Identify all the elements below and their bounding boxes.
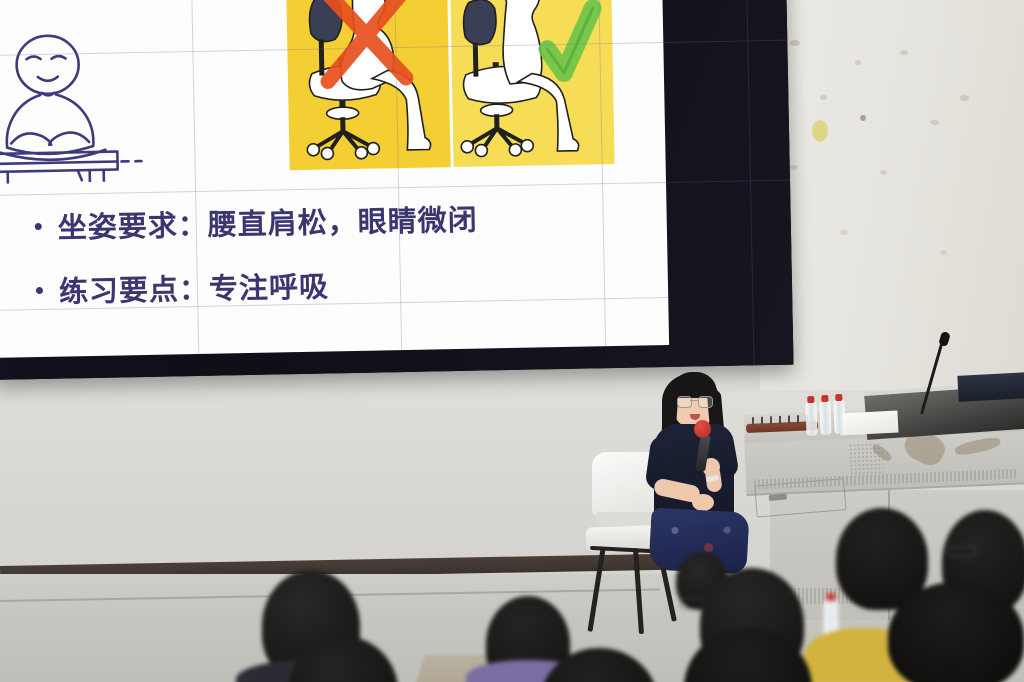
water-bottle bbox=[833, 400, 845, 434]
bullet-dot-icon bbox=[35, 222, 42, 229]
list-item: 坐姿要求：腰直肩松，眼睛微闭 bbox=[34, 194, 635, 248]
left-hand bbox=[692, 494, 714, 511]
audience-head bbox=[888, 582, 1024, 682]
equipment-box bbox=[957, 372, 1024, 402]
sitting-posture-comparison bbox=[286, 0, 615, 170]
water-bottle bbox=[819, 401, 831, 435]
bullet-dot-icon bbox=[36, 286, 43, 293]
meditation-figure-doodle bbox=[0, 0, 192, 184]
eyeglasses-icon bbox=[948, 546, 976, 557]
right-wall-panel bbox=[760, 0, 1024, 390]
slide-bullet-list: 坐姿要求：腰直肩松，眼睛微闭 练习要点：专注呼吸 bbox=[34, 194, 636, 333]
chair-leg bbox=[587, 548, 605, 632]
eyeglasses-icon bbox=[680, 598, 704, 609]
bullet-text: 坐姿要求：腰直肩松，眼睛微闭 bbox=[57, 197, 478, 247]
papers bbox=[839, 410, 898, 435]
posture-panel-good bbox=[450, 0, 615, 167]
posture-panel-bad bbox=[286, 0, 451, 170]
panel-seam bbox=[0, 182, 666, 196]
presentation-slide: MINDFULNESS bbox=[0, 0, 669, 358]
water-bottle bbox=[805, 402, 817, 436]
glasses-icon bbox=[677, 396, 711, 406]
photo-scene: MINDFULNESS bbox=[0, 0, 1024, 682]
led-display-panel: MINDFULNESS bbox=[0, 0, 794, 380]
microphone-head-icon bbox=[694, 420, 711, 438]
